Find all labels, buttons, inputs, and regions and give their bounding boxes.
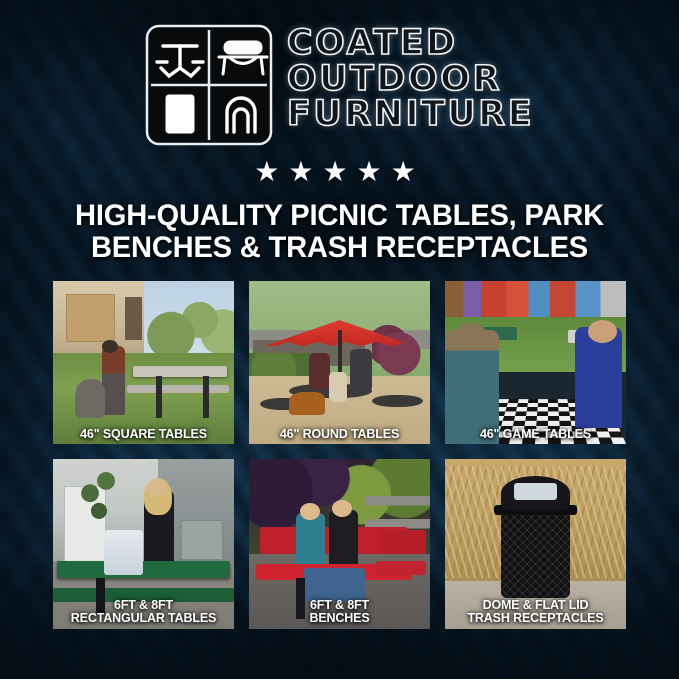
product-card-trash-receptacles[interactable]: DOME & FLAT LID TRASH RECEPTACLES — [445, 459, 626, 629]
product-label-rectangular-tables: 6FT & 8FT RECTANGULAR TABLES — [56, 599, 231, 625]
product-grid-row-1: 46" SQUARE TABLES 46" ROUND TABLES — [53, 281, 626, 444]
product-label-trash-receptacles: DOME & FLAT LID TRASH RECEPTACLES — [448, 599, 623, 625]
product-card-benches[interactable]: 6FT & 8FT BENCHES — [249, 459, 430, 629]
five-star-rating: ★★★★★ — [0, 158, 679, 186]
advertisement-banner: COATED OUTDOOR FURNITURE ★★★★★ HIGH-QUAL… — [0, 0, 679, 679]
four-quadrant-outdoor-furniture-icon — [145, 24, 273, 146]
page-title: HIGH-QUALITY PICNIC TABLES, PARK BENCHES… — [39, 200, 639, 265]
product-card-game-tables[interactable]: 46" GAME TABLES — [445, 281, 626, 444]
product-photo-square-tables — [53, 281, 234, 444]
label-line-2: TRASH RECEPTACLES — [448, 612, 623, 625]
product-card-rectangular-tables[interactable]: 6FT & 8FT RECTANGULAR TABLES — [53, 459, 234, 629]
product-card-round-tables[interactable]: 46" ROUND TABLES — [249, 281, 430, 444]
product-photo-game-tables — [445, 281, 626, 444]
product-grid-row-2: 6FT & 8FT RECTANGULAR TABLES 6FT & 8FT B… — [53, 459, 626, 629]
brand-wordmark: COATED OUTDOOR FURNITURE — [287, 24, 534, 132]
headline-line-2: BENCHES & TRASH RECEPTACLES — [39, 232, 639, 264]
brand-word-furniture: FURNITURE — [287, 97, 534, 132]
brand-logo: COATED OUTDOOR FURNITURE — [0, 24, 679, 146]
header: COATED OUTDOOR FURNITURE ★★★★★ HIGH-QUAL… — [0, 0, 679, 270]
label-line-2: BENCHES — [252, 612, 427, 625]
product-label-square-tables: 46" SQUARE TABLES — [56, 428, 231, 441]
product-photo-round-tables — [249, 281, 430, 444]
product-label-benches: 6FT & 8FT BENCHES — [252, 599, 427, 625]
product-label-game-tables: 46" GAME TABLES — [448, 428, 623, 441]
brand-word-outdoor: OUTDOOR — [287, 62, 534, 97]
product-card-square-tables[interactable]: 46" SQUARE TABLES — [53, 281, 234, 444]
brand-word-coated: COATED — [287, 26, 534, 61]
label-line-2: RECTANGULAR TABLES — [56, 612, 231, 625]
headline-line-1: HIGH-QUALITY PICNIC TABLES, PARK — [39, 200, 639, 232]
product-label-round-tables: 46" ROUND TABLES — [252, 428, 427, 441]
